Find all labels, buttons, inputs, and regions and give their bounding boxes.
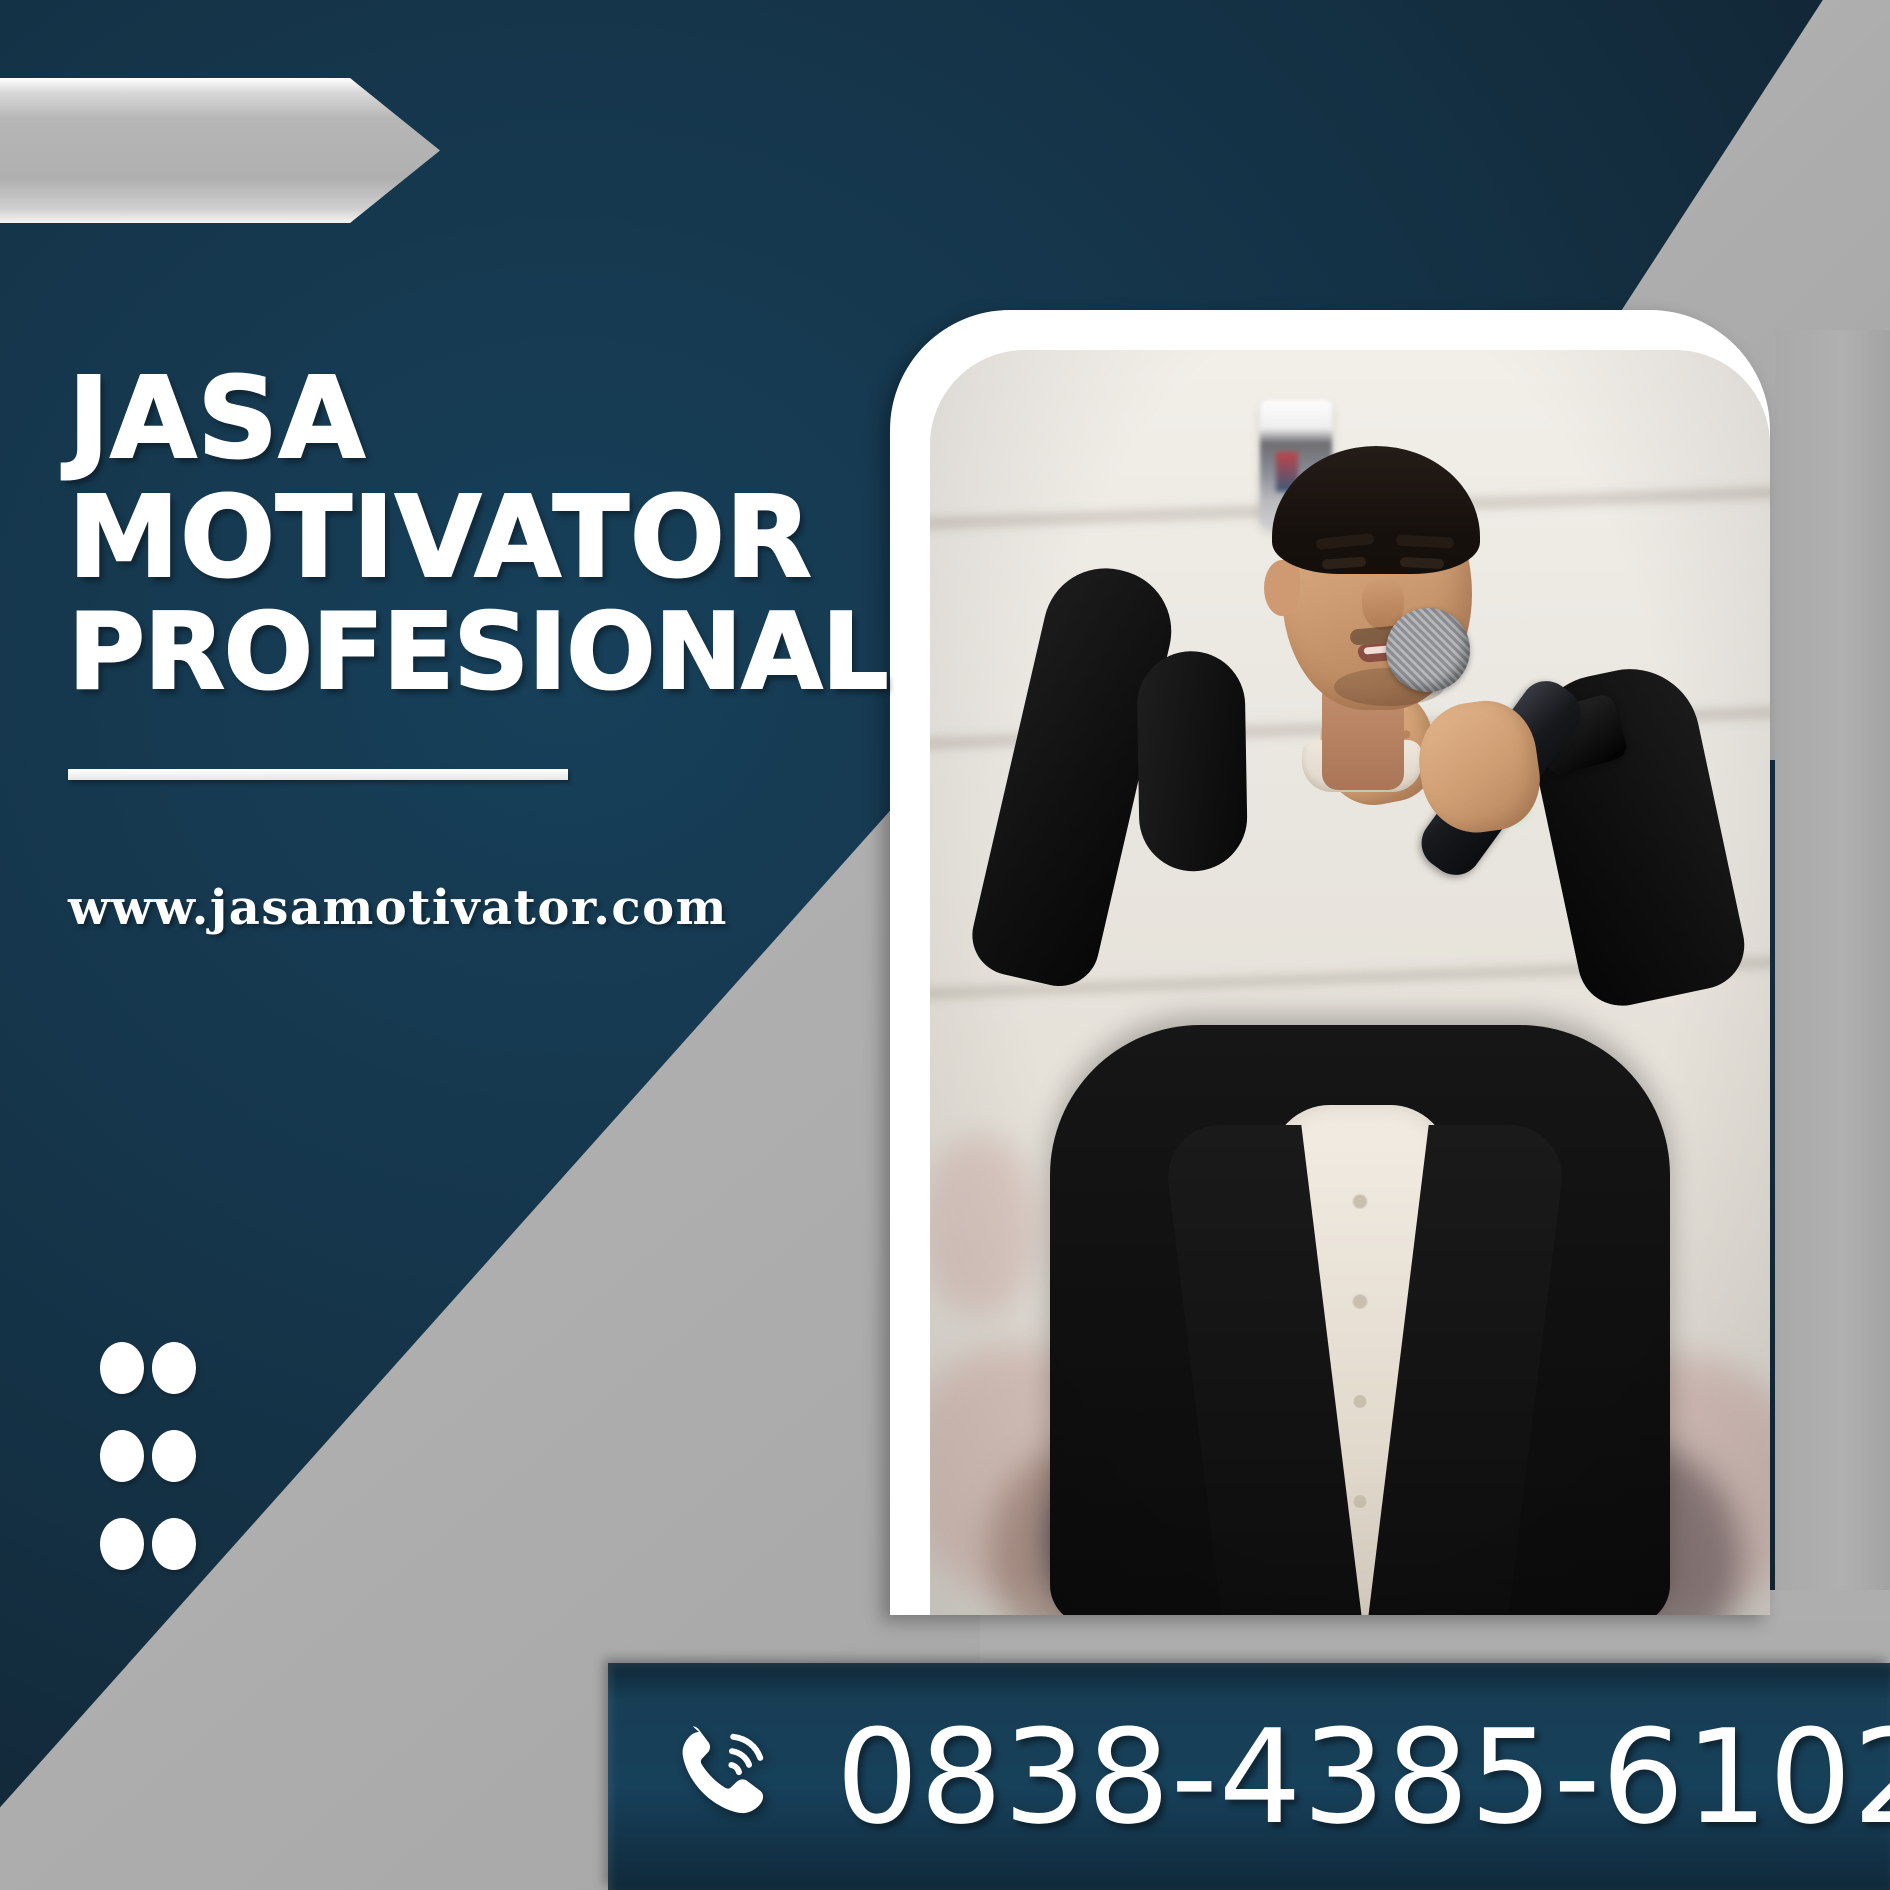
hair [1272, 446, 1480, 574]
microphone-head [1386, 608, 1470, 692]
contact-bar[interactable]: 0838-4385-6102 [608, 1663, 1890, 1890]
arrow-banner-shape [0, 78, 440, 223]
dot [100, 1342, 144, 1394]
speaker-figure [930, 350, 1770, 1615]
phone-number[interactable]: 0838-4385-6102 [836, 1701, 1890, 1853]
page-title: JASA MOTIVATOR PROFESIONAL [68, 360, 768, 709]
dot [100, 1430, 144, 1482]
dot [152, 1430, 196, 1482]
decorative-band-right [1775, 330, 1890, 1670]
raised-upper-arm [964, 556, 1183, 994]
raised-forearm [1136, 650, 1248, 872]
headline-block: JASA MOTIVATOR PROFESIONAL www.jasamotiv… [68, 360, 768, 936]
ear [1264, 560, 1300, 616]
headline-line-1: JASA [68, 360, 768, 479]
divider-rule [68, 769, 568, 780]
headline-line-2: MOTIVATOR [68, 479, 768, 598]
dot [100, 1518, 144, 1570]
phone-ringing-icon [666, 1717, 786, 1837]
dot-grid-decoration [100, 1342, 204, 1606]
speaker-photo [930, 350, 1770, 1615]
dot [152, 1518, 196, 1570]
headline-line-3: PROFESIONAL [68, 597, 768, 708]
poster-canvas: JASA MOTIVATOR PROFESIONAL www.jasamotiv… [0, 0, 1890, 1890]
website-url[interactable]: www.jasamotivator.com [68, 880, 768, 936]
shirt-button [1354, 1495, 1367, 1508]
shirt-button [1354, 1395, 1367, 1408]
dot [152, 1342, 196, 1394]
photo-card-frame [890, 310, 1770, 1615]
